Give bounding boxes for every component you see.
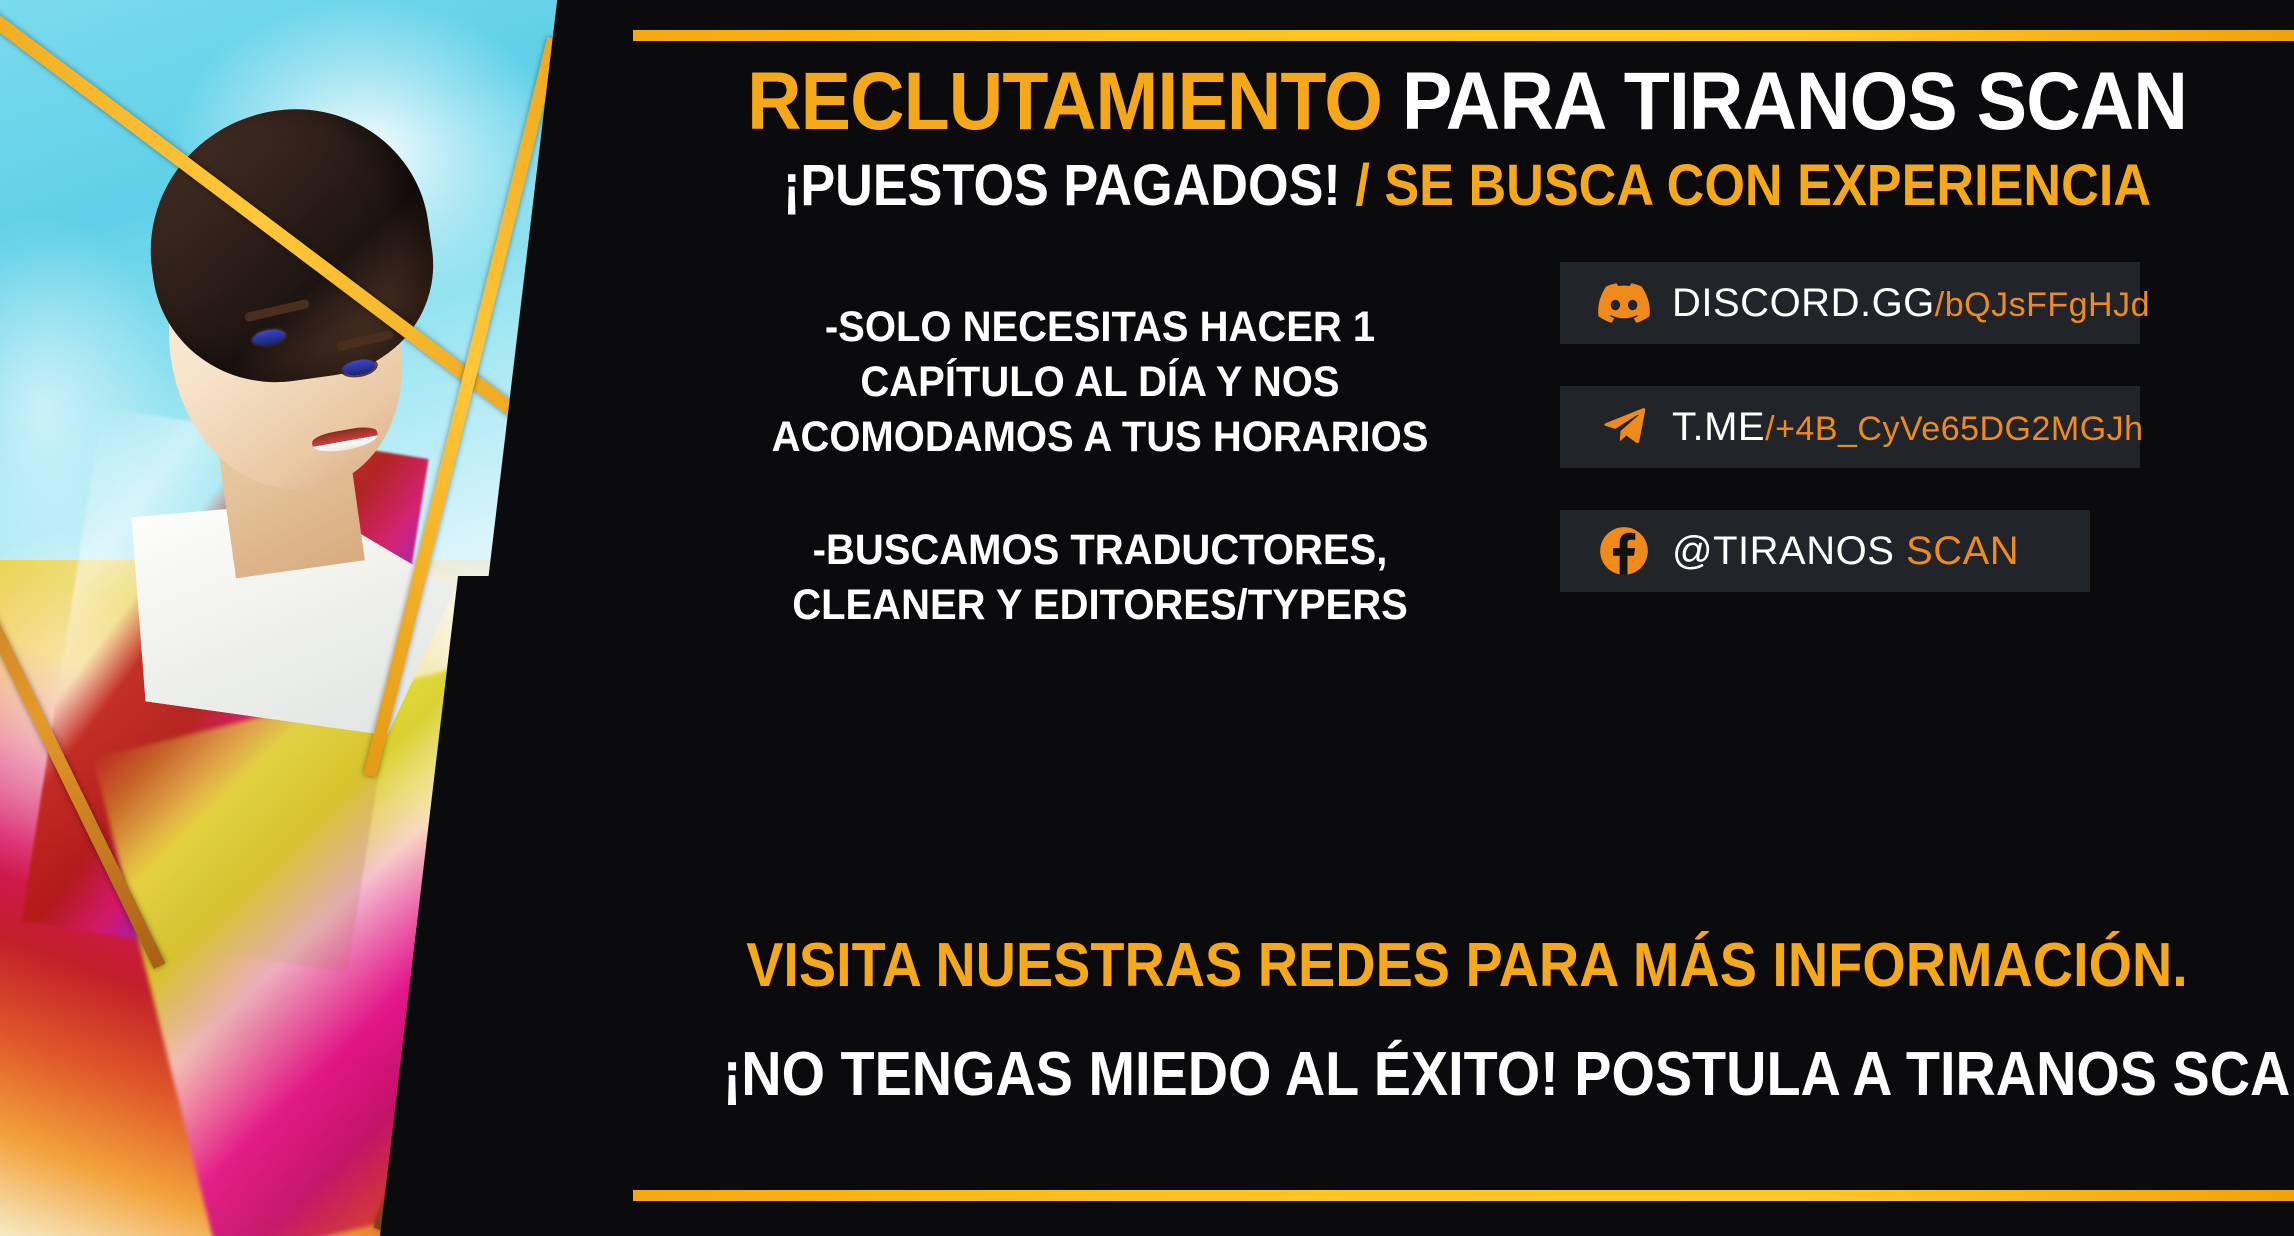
discord-label: DISCORD.GG/bQJsFFgHJd bbox=[1672, 281, 2150, 326]
subtitle: ¡PUESTOS PAGADOS! / SE BUSCA CON EXPERIE… bbox=[723, 152, 2212, 219]
cta-line-2: ¡NO TENGAS MIEDO AL ÉXITO! POSTULA A TIR… bbox=[723, 1039, 2212, 1110]
contact-facebook[interactable]: @TIRANOS SCAN bbox=[1560, 510, 2090, 592]
facebook-handle-suffix: SCAN bbox=[1894, 529, 2019, 573]
contact-discord[interactable]: DISCORD.GG/bQJsFFgHJd bbox=[1560, 262, 2140, 344]
gold-diagonal-stroke-left bbox=[0, 460, 165, 969]
headline-highlight: RECLUTAMIENTO bbox=[747, 56, 1382, 147]
gold-rule-bottom bbox=[633, 1190, 2294, 1201]
page-title: RECLUTAMIENTO PARA TIRANOS SCAN bbox=[706, 60, 2228, 144]
body-paragraph-2: -BUSCAMOS TRADUCTORES, CLEANER Y EDITORE… bbox=[728, 523, 1472, 633]
facebook-handle: @TIRANOS bbox=[1672, 529, 1894, 573]
subtitle-paid-positions: ¡PUESTOS PAGADOS! bbox=[783, 153, 1341, 218]
body-copy: -SOLO NECESITAS HACER 1 CAPÍTULO AL DÍA … bbox=[728, 300, 1472, 633]
gold-rule-top bbox=[633, 30, 2294, 41]
discord-domain: DISCORD.GG bbox=[1672, 281, 1935, 325]
artwork-panel bbox=[0, 0, 640, 1236]
cta-line-1: VISITA NUESTRAS REDES PARA MÁS INFORMACI… bbox=[723, 930, 2212, 1001]
content-panel: RECLUTAMIENTO PARA TIRANOS SCAN ¡PUESTOS… bbox=[640, 0, 2294, 1236]
facebook-label: @TIRANOS SCAN bbox=[1672, 529, 2019, 574]
telegram-icon bbox=[1598, 401, 1650, 453]
recruitment-banner: RECLUTAMIENTO PARA TIRANOS SCAN ¡PUESTOS… bbox=[0, 0, 2294, 1236]
telegram-domain: T.ME bbox=[1672, 405, 1765, 449]
body-paragraph-1: -SOLO NECESITAS HACER 1 CAPÍTULO AL DÍA … bbox=[728, 300, 1472, 465]
subtitle-experience: / SE BUSCA CON EXPERIENCIA bbox=[1341, 153, 2151, 218]
call-to-action: VISITA NUESTRAS REDES PARA MÁS INFORMACI… bbox=[723, 930, 2212, 1110]
facebook-icon bbox=[1598, 525, 1650, 577]
contact-list: DISCORD.GG/bQJsFFgHJd T.ME/+4B_CyVe65DG2… bbox=[1560, 262, 2140, 634]
telegram-label: T.ME/+4B_CyVe65DG2MGJh bbox=[1672, 405, 2144, 450]
discord-icon bbox=[1598, 277, 1650, 329]
discord-invite-code: /bQJsFFgHJd bbox=[1935, 286, 2150, 324]
telegram-invite-code: /+4B_CyVe65DG2MGJh bbox=[1765, 410, 2143, 448]
headline-rest: PARA TIRANOS SCAN bbox=[1382, 56, 2187, 147]
contact-telegram[interactable]: T.ME/+4B_CyVe65DG2MGJh bbox=[1560, 386, 2140, 468]
